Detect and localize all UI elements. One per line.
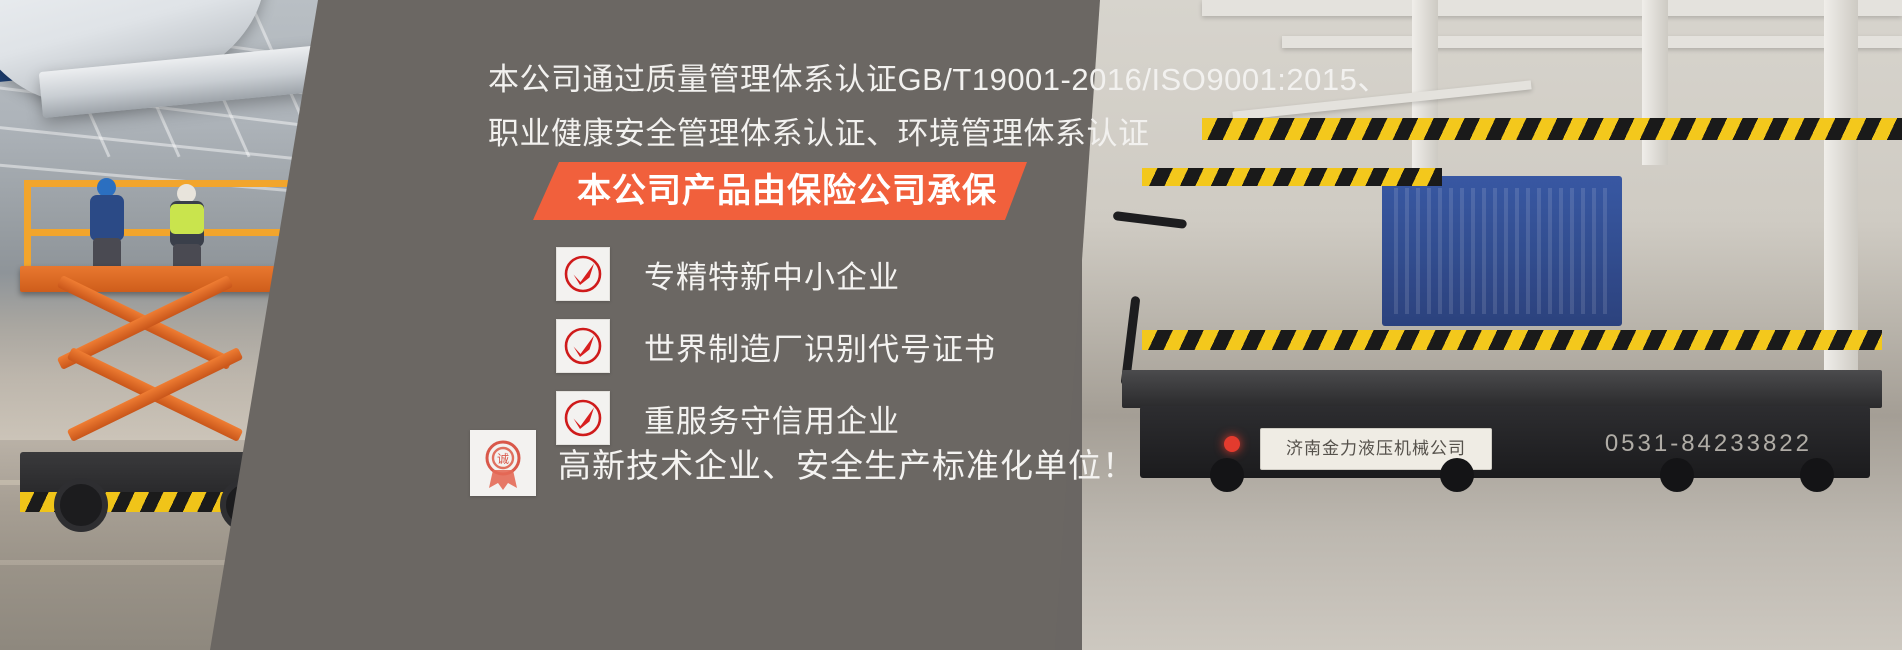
award-ribbon-icon: 诚 — [470, 430, 536, 496]
certification-list: 专精特新中小企业 世界制造厂识别代号证书 重 — [556, 238, 996, 454]
cart-phone-code: 0531-84233822 — [1605, 430, 1812, 458]
award-ribbon-glyph: 诚 — [497, 452, 509, 466]
headline-line-2: 职业健康安全管理体系认证、环境管理体系认证 — [488, 108, 1150, 153]
highlight-label: 高新技术企业、安全生产标准化单位！ — [558, 439, 1136, 487]
list-item-label: 专精特新中小企业 — [644, 252, 900, 297]
insurance-badge: 本公司产品由保险公司承保 — [533, 162, 1027, 220]
check-circle-icon — [556, 319, 610, 373]
list-item: 专精特新中小企业 — [556, 238, 996, 310]
list-item-label: 世界制造厂识别代号证书 — [644, 324, 996, 369]
headline-line-1: 本公司通过质量管理体系认证GB/T19001-2016/ISO9001:2015… — [488, 54, 1389, 99]
list-item: 世界制造厂识别代号证书 — [556, 310, 996, 382]
check-circle-icon — [556, 247, 610, 301]
highlight-row: 诚 高新技术企业、安全生产标准化单位！ — [470, 430, 1136, 496]
worker-blue — [90, 178, 124, 270]
scissor-arms — [50, 296, 280, 446]
worker-vest — [170, 184, 204, 276]
insurance-badge-wrapper: 本公司产品由保险公司承保 — [533, 162, 1027, 220]
lift-guardrail — [24, 180, 306, 272]
promo-banner: 济南金力液压机械公司 0531-84233822 本公司通过质量管理体系认证GB… — [0, 0, 1902, 650]
banner-content: 本公司通过质量管理体系认证GB/T19001-2016/ISO9001:2015… — [488, 0, 1488, 650]
